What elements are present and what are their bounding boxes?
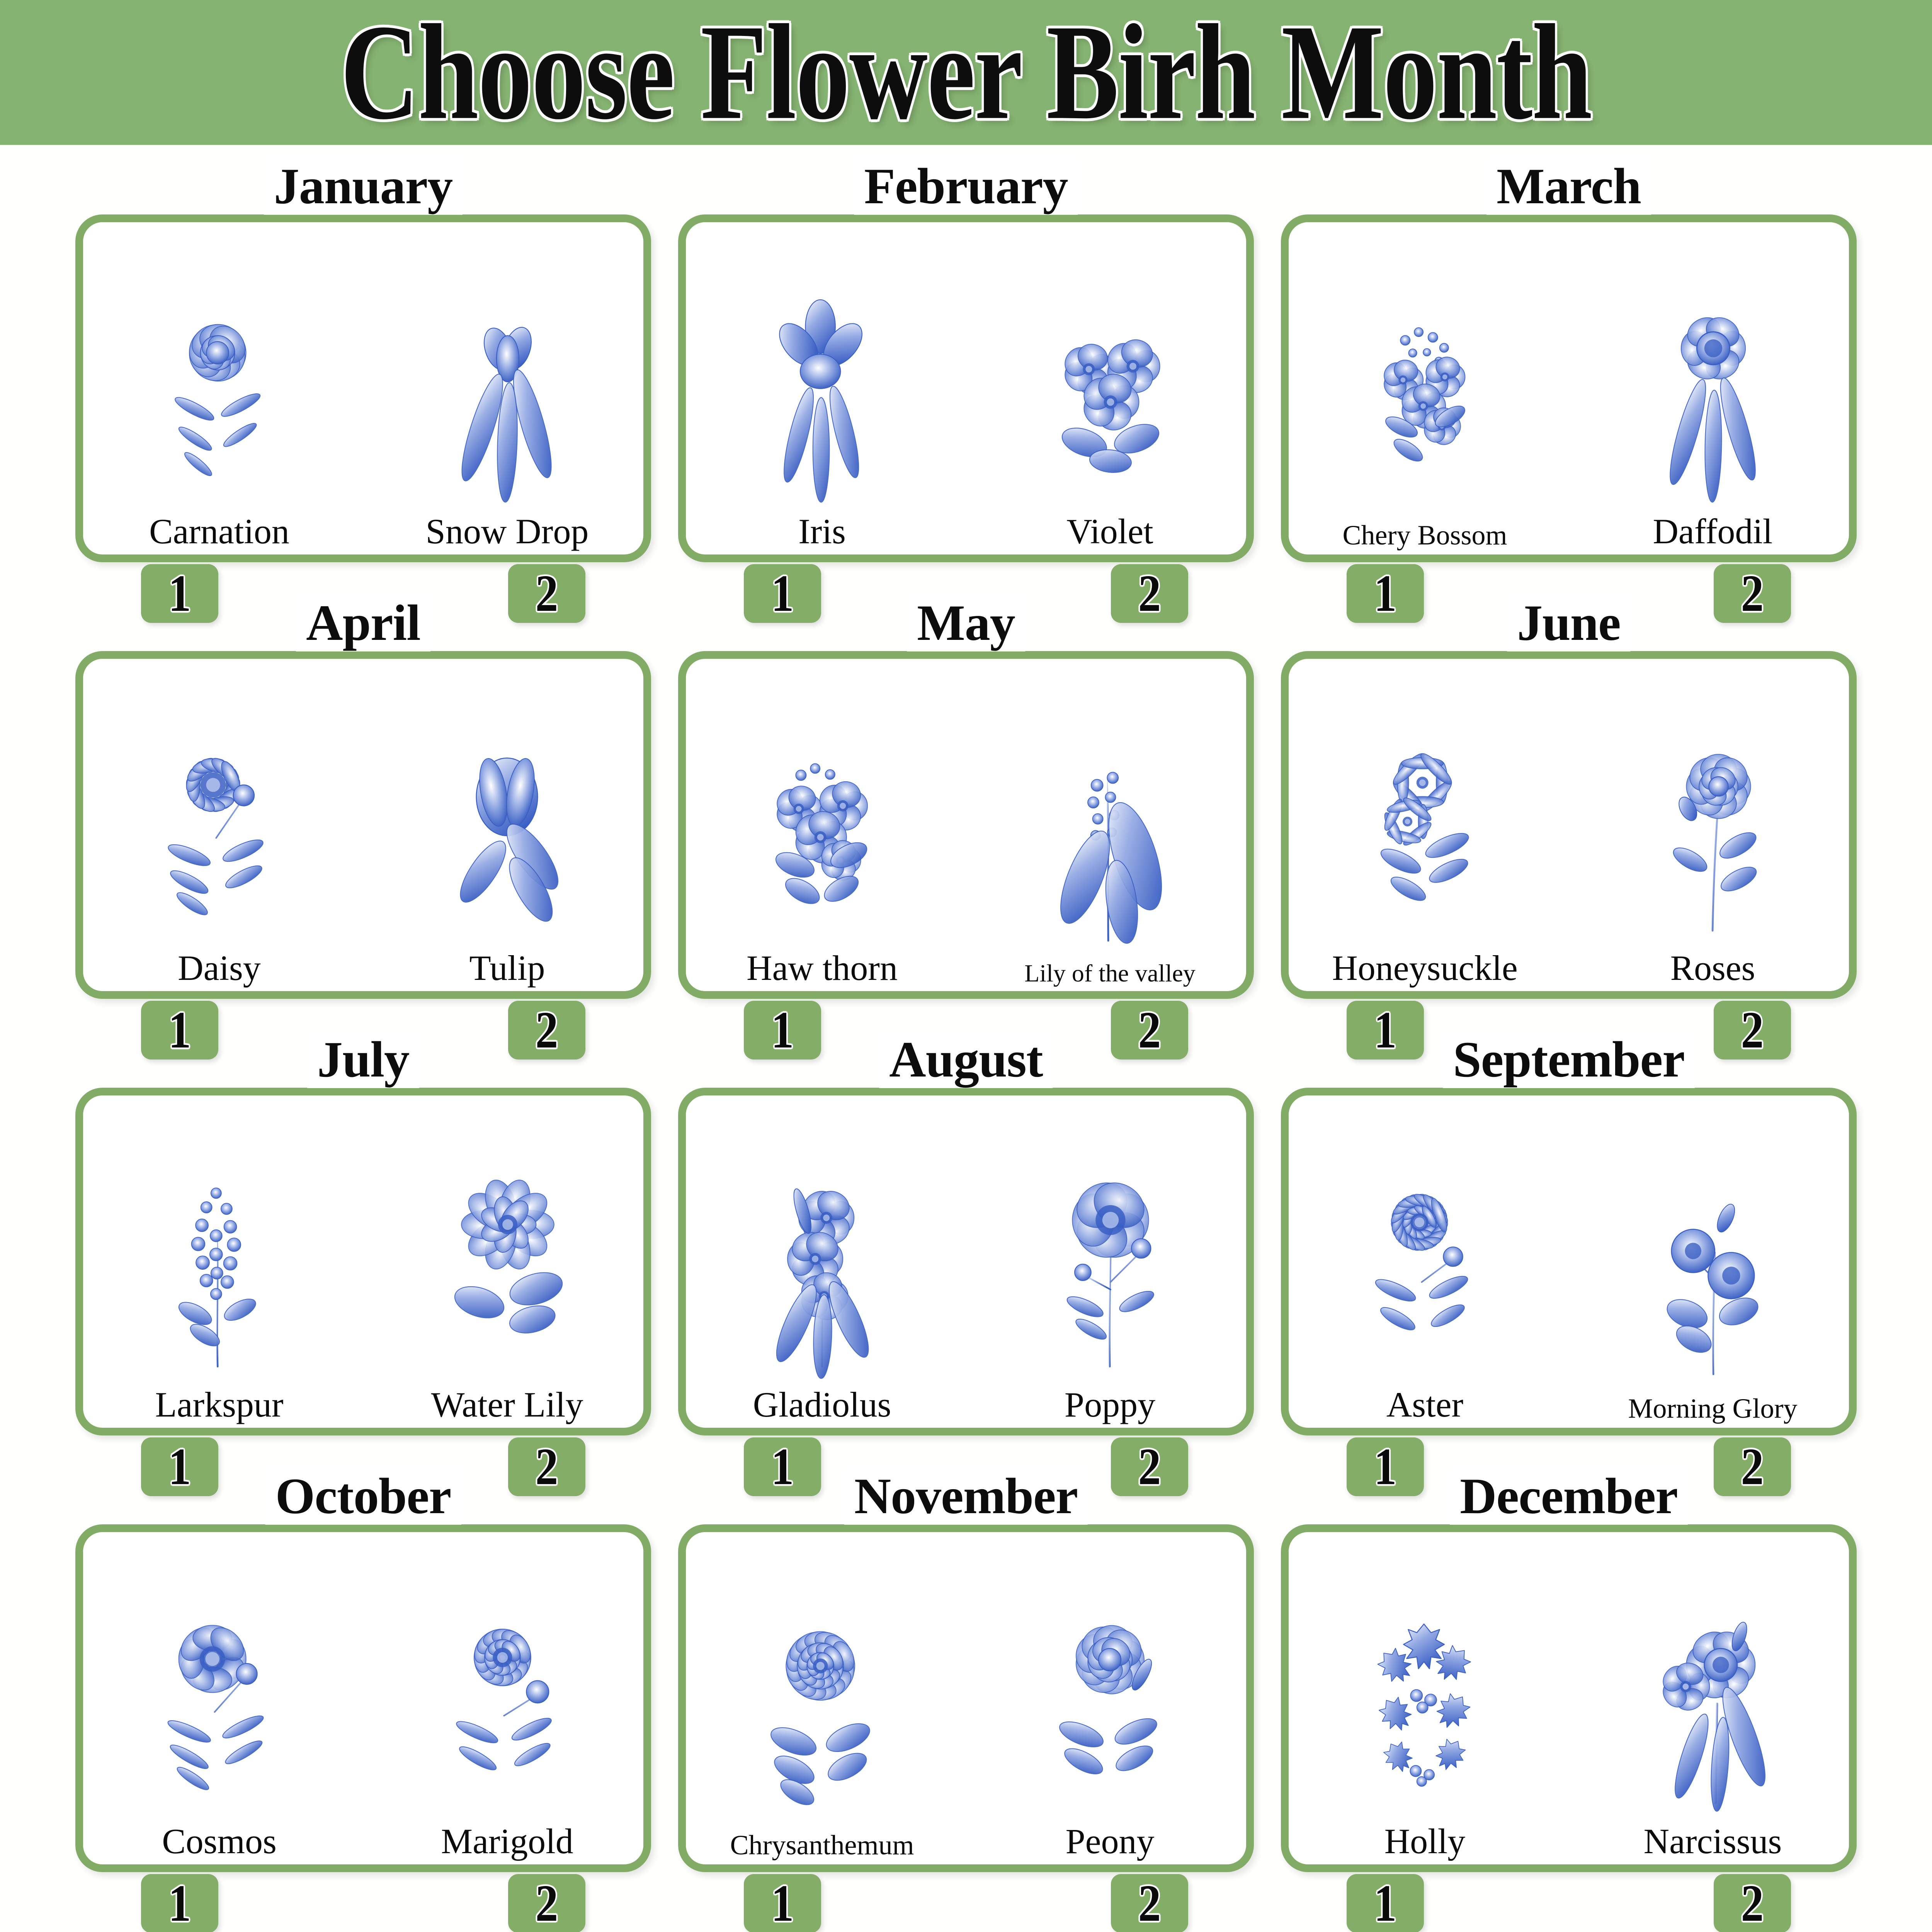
flower-option-badge-1[interactable]: 1 [744,1437,821,1496]
flower-birth-month-page: Choose Flower Birh Month January Carnati… [0,0,1932,1932]
flower-option-number: 2 [536,1440,558,1493]
month-card-frame [678,214,1254,562]
month-card-june[interactable]: June Honeysuckle Roses12 [1281,599,1857,1036]
month-card-december[interactable]: December H [1281,1472,1857,1909]
flower-option-badge-1[interactable]: 1 [141,1874,218,1932]
flower-option-number: 1 [168,1877,191,1930]
flower-option-number: 2 [1138,1004,1161,1056]
flower-option-badge-1[interactable]: 1 [1347,1001,1424,1060]
flower-option-number: 2 [1138,567,1161,620]
flower-option-badge-1[interactable]: 1 [141,1437,218,1496]
flower-option-badge-2[interactable]: 2 [508,1001,585,1060]
month-card-january[interactable]: January Carnation Snow Drop12 [75,162,651,599]
flower-option-number: 1 [771,1877,794,1930]
month-card-frame [75,1088,651,1435]
flower-option-number: 2 [536,1877,558,1930]
month-name-label: October [265,1468,461,1525]
flower-option-number: 1 [1374,1440,1397,1493]
month-card-november[interactable]: November Chrysanthemum Peony12 [678,1472,1254,1909]
flower-option-badge-2[interactable]: 2 [1111,1437,1188,1496]
month-card-frame [678,1524,1254,1872]
flower-option-badge-2[interactable]: 2 [1714,1001,1791,1060]
flower-option-number: 2 [536,1004,558,1056]
page-header-band: Choose Flower Birh Month [0,0,1932,145]
flower-option-number: 1 [771,1004,794,1056]
flower-option-badge-2[interactable]: 2 [1111,1874,1188,1932]
month-card-frame [1281,1088,1857,1435]
flower-option-number: 2 [1741,1004,1764,1056]
flower-option-badge-1[interactable]: 1 [141,564,218,623]
flower-option-number: 1 [1374,1004,1397,1056]
flower-option-number: 1 [771,1440,794,1493]
month-card-frame [75,1524,651,1872]
flower-option-badge-1[interactable]: 1 [141,1001,218,1060]
flower-option-number: 2 [1741,567,1764,620]
month-card-frame [75,651,651,999]
flower-option-number: 2 [1741,1440,1764,1493]
month-name-label: January [264,158,463,215]
flower-option-badge-1[interactable]: 1 [744,1001,821,1060]
month-card-september[interactable]: September Aster Morning Glory12 [1281,1036,1857,1472]
month-name-label: June [1507,594,1630,651]
month-card-frame [1281,214,1857,562]
month-card-april[interactable]: April Daisy Tulip12 [75,599,651,1036]
flower-option-badge-1[interactable]: 1 [1347,564,1424,623]
month-name-label: July [307,1031,419,1088]
month-name-label: November [844,1468,1088,1525]
month-card-march[interactable]: March Chery Bossom Daffodil1 [1281,162,1857,599]
month-card-october[interactable]: October Cosmos Marigold12 [75,1472,651,1909]
month-card-frame [1281,1524,1857,1872]
flower-option-number: 1 [1374,567,1397,620]
flower-option-badge-2[interactable]: 2 [1714,1437,1791,1496]
flower-option-badge-2[interactable]: 2 [1111,564,1188,623]
flower-option-number: 1 [1374,1877,1397,1930]
flower-option-badge-1[interactable]: 1 [1347,1874,1424,1932]
month-name-label: August [879,1031,1053,1088]
flower-option-badge-1[interactable]: 1 [744,564,821,623]
flower-option-badge-2[interactable]: 2 [508,1874,585,1932]
month-cards-grid: January Carnation Snow Drop12February [70,162,1862,1909]
flower-option-badge-2[interactable]: 2 [508,1437,585,1496]
month-card-frame [678,1088,1254,1435]
flower-option-number: 2 [536,567,558,620]
month-card-frame [1281,651,1857,999]
month-card-july[interactable]: July Larkspur Water Lily12 [75,1036,651,1472]
month-card-may[interactable]: May Haw thorn Lily of the va [678,599,1254,1036]
month-name-label: April [296,594,430,651]
flower-option-number: 1 [771,567,794,620]
month-name-label: December [1450,1468,1688,1525]
month-card-frame [678,651,1254,999]
month-name-label: May [907,594,1025,651]
flower-option-badge-2[interactable]: 2 [1714,1874,1791,1932]
month-card-august[interactable]: August Gladiolus Poppy12 [678,1036,1254,1472]
month-card-frame [75,214,651,562]
flower-option-badge-1[interactable]: 1 [744,1874,821,1932]
flower-option-number: 2 [1138,1440,1161,1493]
flower-option-number: 2 [1138,1877,1161,1930]
month-name-label: September [1443,1031,1695,1088]
flower-option-badge-2[interactable]: 2 [1714,564,1791,623]
flower-option-badge-2[interactable]: 2 [1111,1001,1188,1060]
flower-option-badge-1[interactable]: 1 [1347,1437,1424,1496]
page-title: Choose Flower Birh Month [340,5,1592,139]
flower-option-badge-2[interactable]: 2 [508,564,585,623]
month-name-label: March [1486,158,1651,215]
month-name-label: February [854,158,1078,215]
flower-option-number: 1 [168,1004,191,1056]
flower-option-number: 2 [1741,1877,1764,1930]
month-card-february[interactable]: February Iris Violet12 [678,162,1254,599]
flower-option-number: 1 [168,1440,191,1493]
flower-option-number: 1 [168,567,191,620]
